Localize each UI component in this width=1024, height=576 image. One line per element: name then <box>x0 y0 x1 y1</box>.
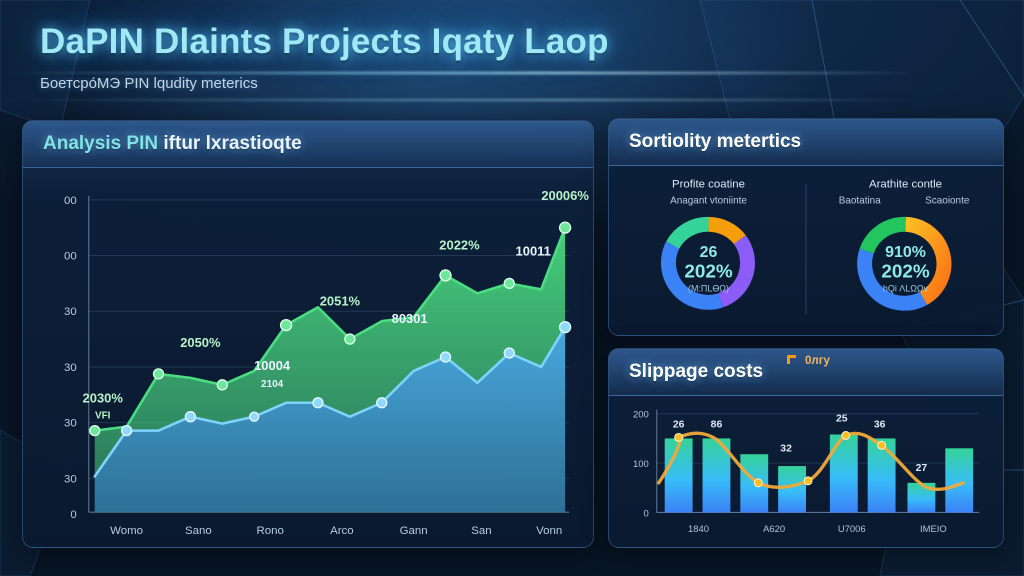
donut-1-center-sub: (M:ΠLӨΩ) <box>688 284 729 294</box>
slippage-costs-panel: Slippage costs 0лгу 200 100 0 <box>608 348 1004 548</box>
svg-text:IMEIO: IMEIO <box>920 523 947 534</box>
slippage-plot: 200 100 0 <box>609 396 1003 547</box>
donut-charts-svg: Profite coatine Anagant vtoniinte 26 202… <box>609 166 1003 335</box>
donut-panel-title: Sortiolity metertics <box>629 131 801 153</box>
svg-text:0: 0 <box>70 509 76 521</box>
slippage-legend: 0лгу <box>785 349 983 395</box>
light-streak-secondary <box>0 99 1024 101</box>
donut-2-center-top: 910% <box>885 244 926 261</box>
donut-2-subcaption-left: Baotatina <box>839 196 881 207</box>
y-axis-labels: 00 00 30 30 30 30 0 <box>64 195 77 521</box>
bar-item <box>778 466 806 512</box>
svg-text:10004: 10004 <box>254 358 291 373</box>
main-chart-title-accent: Analysis PIN <box>43 133 158 154</box>
slippage-panel-title: Slippage costs <box>629 361 763 383</box>
svg-text:100: 100 <box>633 458 649 469</box>
svg-text:Rono: Rono <box>256 525 283 537</box>
donut-1-caption: Profite coatine <box>672 179 745 191</box>
x-axis-labels: Womo Sano Rono Arco Gann San Vonn <box>110 525 562 537</box>
svg-text:2051%: 2051% <box>320 293 361 308</box>
svg-text:Arco: Arco <box>330 525 354 537</box>
donut-panel-plot: Profite coatine Anagant vtoniinte 26 202… <box>609 166 1003 335</box>
svg-text:30: 30 <box>64 362 77 374</box>
svg-text:2104: 2104 <box>261 379 284 390</box>
bar-x-axis-labels: 1840 A620 U7006 IMEIO <box>688 523 947 534</box>
donut-panel-header: Sortiolity metertics <box>609 119 1003 166</box>
svg-text:86: 86 <box>711 420 723 431</box>
svg-text:36: 36 <box>874 420 886 431</box>
main-chart-title: Analysis PIN iftur lxrastioqte <box>43 133 302 155</box>
svg-text:32: 32 <box>780 443 792 454</box>
svg-text:A620: A620 <box>763 523 785 534</box>
main-chart-panel: Analysis PIN iftur lxrastioqte <box>22 120 594 548</box>
svg-text:Sano: Sano <box>185 525 212 537</box>
bar-item <box>830 434 858 512</box>
donut-chart-1: Profite coatine Anagant vtoniinte 26 202… <box>668 179 748 304</box>
svg-text:10011: 10011 <box>516 244 551 259</box>
svg-text:00: 00 <box>64 195 77 207</box>
svg-text:Gann: Gann <box>400 525 428 537</box>
main-chart-title-rest: iftur lxrastioqte <box>158 133 302 154</box>
svg-text:U7006: U7006 <box>838 523 866 534</box>
page-subtitle: Боетсро́МЭ PIN lqudity meterics <box>40 75 609 92</box>
donut-1-center-top: 26 <box>700 244 718 261</box>
page-title: DaPIN Dlaints Projects Iqaty Laop <box>40 22 609 62</box>
bar-item <box>945 448 973 512</box>
svg-text:30: 30 <box>64 418 77 430</box>
svg-text:2030%: 2030% <box>83 391 124 406</box>
svg-text:00: 00 <box>64 251 77 263</box>
donut-2-subcaption-right: Scaoionte <box>925 196 970 207</box>
svg-text:Womo: Womo <box>110 525 143 537</box>
main-chart-panel-header: Analysis PIN iftur lxrastioqte <box>23 121 593 168</box>
bar-y-axis-labels: 200 100 0 <box>633 409 649 519</box>
svg-text:2022%: 2022% <box>439 238 480 253</box>
page-header: DaPIN Dlaints Projects Iqaty Laop Боетср… <box>40 22 609 92</box>
donut-2-center-main: 202% <box>881 261 930 282</box>
donut-1-subcaption: Anagant vtoniinte <box>670 196 747 207</box>
svg-text:30: 30 <box>64 306 77 318</box>
svg-text:26: 26 <box>673 420 685 431</box>
bar-chart-svg: 200 100 0 <box>609 396 1003 547</box>
slippage-panel-header: Slippage costs 0лгу <box>609 349 1003 396</box>
donut-chart-2: Arathite contle Baotatina Scaoionte 910%… <box>839 179 970 304</box>
svg-text:20006%: 20006% <box>541 188 589 203</box>
main-chart-plot: 00 00 30 30 30 30 0 <box>23 168 593 547</box>
svg-text:27: 27 <box>916 463 928 474</box>
svg-text:VFI: VFI <box>95 411 111 422</box>
donut-metrics-panel: Sortiolity metertics Profite coatine Ana… <box>608 118 1004 336</box>
donut-2-center-sub: hQi ΛLΩΩv <box>883 284 929 294</box>
svg-text:200: 200 <box>633 409 649 420</box>
svg-text:San: San <box>471 525 491 537</box>
svg-text:2050%: 2050% <box>180 335 221 350</box>
svg-text:1840: 1840 <box>688 523 709 534</box>
svg-text:30: 30 <box>64 473 77 485</box>
area-chart-svg: 00 00 30 30 30 30 0 <box>23 168 593 547</box>
svg-text:Vonn: Vonn <box>536 525 562 537</box>
legend-label: 0лгу <box>805 355 830 367</box>
svg-text:0: 0 <box>644 507 649 518</box>
svg-text:80301: 80301 <box>392 311 428 326</box>
donut-2-caption: Arathite contle <box>869 179 942 191</box>
donut-1-center-main: 202% <box>684 261 733 282</box>
svg-text:25: 25 <box>836 414 848 425</box>
